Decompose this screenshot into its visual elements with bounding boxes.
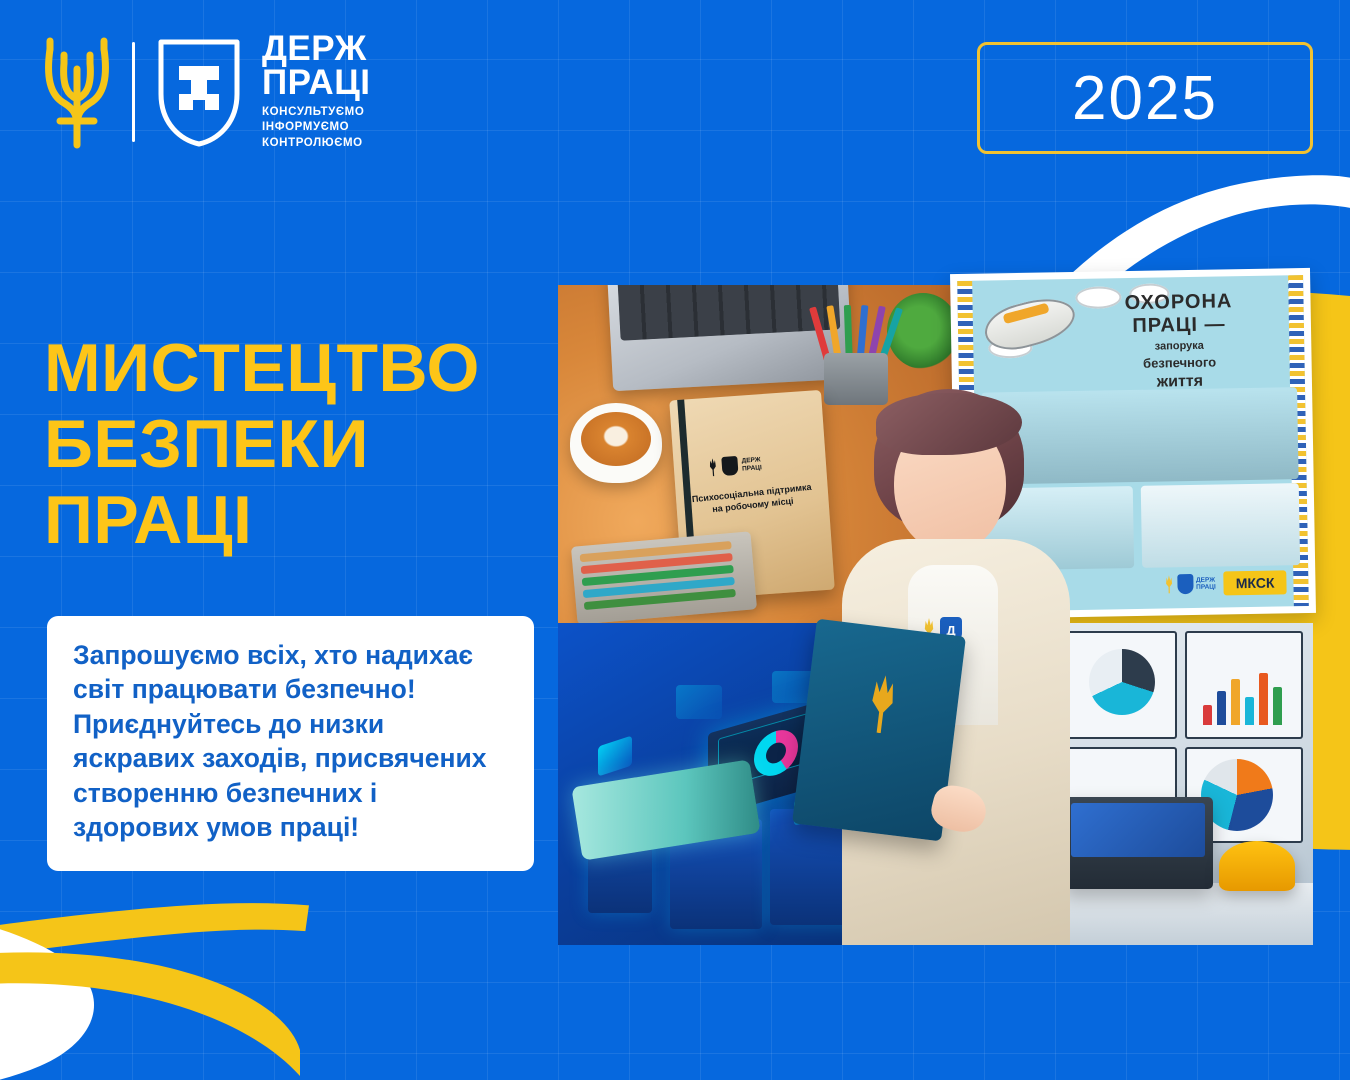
bottom-left-decoration xyxy=(0,850,360,1080)
laptop-icon xyxy=(607,285,853,391)
headline-line1: МИСТЕЦТВО xyxy=(44,330,480,406)
invitation-card: Запрошуємо всіх, хто надихає світ працюв… xyxy=(47,616,534,871)
poster-canvas: ДЕРЖ ПРАЦІ КОНСУЛЬТУЄМО ІНФОРМУЄМО КОНТР… xyxy=(0,0,1350,1080)
mksk-label: МКСК xyxy=(1236,575,1275,592)
year-badge: 2025 xyxy=(977,42,1313,154)
page-title: МИСТЕЦТВО БЕЗПЕКИ ПРАЦІ xyxy=(44,330,480,558)
poster-footer-logo: ДЕРЖ ПРАЦІ xyxy=(1164,574,1216,595)
logo-divider xyxy=(132,42,135,142)
notebook-trident-icon xyxy=(707,458,718,477)
notebook-logo-line2: ПРАЦІ xyxy=(742,464,762,472)
poster-subtitle-line1: запорука xyxy=(1078,338,1280,354)
notebook-title: Психосоціальна підтримка на робочому міс… xyxy=(687,480,817,518)
brand-tagline-line2: ІНФОРМУЄМО xyxy=(262,120,371,135)
derzhpratsi-shield-icon xyxy=(155,36,243,148)
poster-scene-doctor-children xyxy=(1141,483,1300,568)
mksk-badge: МКСК xyxy=(1224,570,1287,595)
colored-pencils-tray-icon xyxy=(571,531,757,623)
headline-line3: ПРАЦІ xyxy=(44,482,480,558)
headline-line2: БЕЗПЕКИ xyxy=(44,406,480,482)
brand-name-line2: ПРАЦІ xyxy=(262,66,371,100)
brand-tagline-line1: КОНСУЛЬТУЄМО xyxy=(262,105,371,120)
brand-wordmark: ДЕРЖ ПРАЦІ КОНСУЛЬТУЄМО ІНФОРМУЄМО КОНТР… xyxy=(262,32,371,151)
ukraine-trident-icon xyxy=(38,33,116,151)
plant-icon xyxy=(887,293,953,369)
photo-collage: ДЕРЖ ПРАЦІ Психосоціальна підтримка на р… xyxy=(558,285,1310,945)
poster-shield-icon xyxy=(1177,574,1193,594)
coffee-cup-icon xyxy=(570,403,662,483)
invitation-text: Запрошуємо всіх, хто надихає світ працюв… xyxy=(73,638,508,845)
clipboard-trident-icon xyxy=(862,673,903,735)
brand-name-line1: ДЕРЖ xyxy=(262,32,371,66)
hard-hat-icon xyxy=(1219,841,1295,891)
expo-bar-chart-icon xyxy=(1203,667,1282,725)
notebook-shield-icon xyxy=(721,456,738,476)
expo-laptop-icon xyxy=(1063,797,1213,889)
expo-donut-chart-icon xyxy=(1089,649,1155,715)
brand-tagline-line3: КОНТРОЛЮЄМО xyxy=(262,136,371,151)
presenter-woman-figure: Д xyxy=(836,389,1080,945)
poster-heading: ОХОРОНА ПРАЦІ — запорука безпечного житт… xyxy=(1077,289,1281,393)
brand-logo[interactable]: ДЕРЖ ПРАЦІ КОНСУЛЬТУЄМО ІНФОРМУЄМО КОНТР… xyxy=(38,32,371,151)
year-label: 2025 xyxy=(1072,63,1218,134)
poster-subtitle-line2: безпечного xyxy=(1078,353,1280,372)
poster-footer-logo-line2: ПРАЦІ xyxy=(1196,584,1216,591)
poster-title-line2: ПРАЦІ — xyxy=(1078,312,1280,339)
poster-trident-icon xyxy=(1164,575,1174,593)
